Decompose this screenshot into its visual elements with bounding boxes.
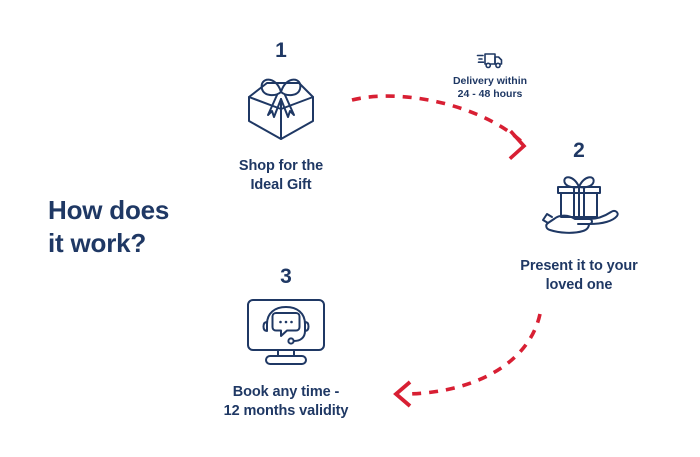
delivery-annotation-text: Delivery within 24 - 48 hours xyxy=(430,75,550,101)
page-title: How does it work? xyxy=(48,194,258,261)
infographic-how-it-works: How does it work? De xyxy=(0,0,700,457)
step-2-caption-line-1: Present it to your xyxy=(498,257,660,276)
step-1-caption: Shop for the Ideal Gift xyxy=(206,157,356,196)
delivery-annotation: Delivery within 24 - 48 hours xyxy=(430,48,550,101)
delivery-truck-icon xyxy=(430,48,550,72)
step-1-caption-line-1: Shop for the xyxy=(206,157,356,176)
step-3-number: 3 xyxy=(206,266,366,287)
step-1-number: 1 xyxy=(206,40,356,61)
delivery-annotation-line-1: Delivery within xyxy=(430,75,550,88)
step-2: 2 Present it to your lov xyxy=(498,140,660,296)
page-title-line-1: How does xyxy=(48,194,258,227)
step-2-caption: Present it to your loved one xyxy=(498,257,660,296)
step-1: 1 Shop for the Ideal Gift xyxy=(206,40,356,196)
step-3-caption-line-2: 12 months validity xyxy=(206,402,366,421)
gift-box-icon xyxy=(206,67,356,145)
step-1-caption-line-2: Ideal Gift xyxy=(206,176,356,195)
page-title-line-2: it work? xyxy=(48,227,258,260)
monitor-support-chat-icon xyxy=(206,293,366,371)
arrow-step2-to-step3 xyxy=(396,314,540,406)
step-2-number: 2 xyxy=(498,140,660,161)
delivery-annotation-line-2: 24 - 48 hours xyxy=(430,88,550,101)
step-3-caption-line-1: Book any time - xyxy=(206,383,366,402)
step-2-caption-line-2: loved one xyxy=(498,276,660,295)
step-3: 3 xyxy=(206,266,366,422)
hand-holding-gift-icon xyxy=(498,167,660,245)
step-3-caption: Book any time - 12 months validity xyxy=(206,383,366,422)
